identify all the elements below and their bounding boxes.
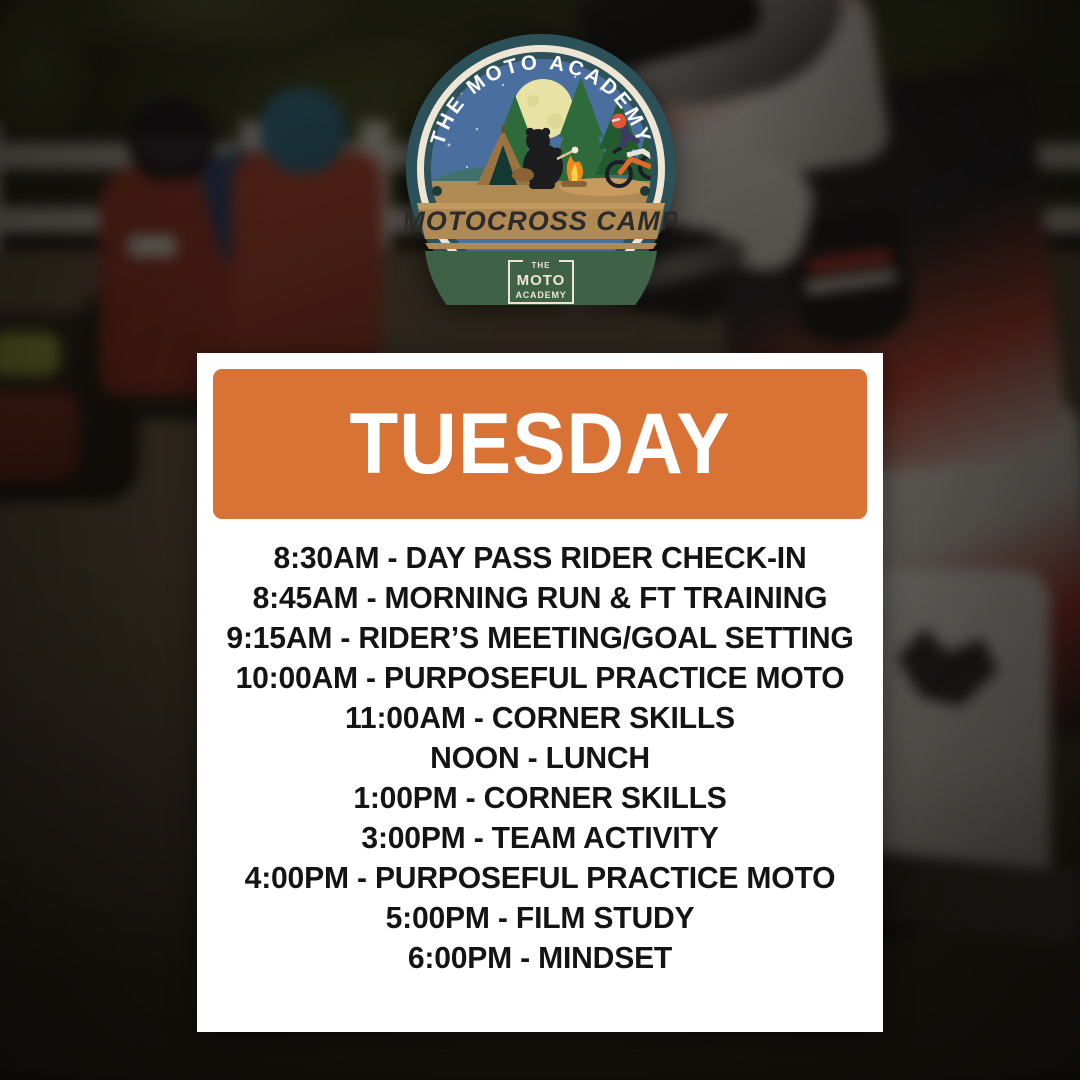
schedule-item: 10:00AM - PURPOSEFUL PRACTICE MOTO — [219, 658, 861, 698]
schedule-item: NOON - LUNCH — [219, 738, 861, 778]
badge-band-text: MOTOCROSS CAMP — [405, 206, 677, 236]
schedule-item: 3:00PM - TEAM ACTIVITY — [219, 818, 861, 858]
schedule-item: 4:00PM - PURPOSEFUL PRACTICE MOTO — [219, 858, 861, 898]
badge-dot-right — [640, 186, 650, 196]
svg-text:ACADEMY: ACADEMY — [515, 290, 566, 300]
schedule-list: 8:30AM - DAY PASS RIDER CHECK-IN 8:45AM … — [209, 538, 871, 978]
badge-dot-left — [432, 186, 442, 196]
day-title: TUESDAY — [349, 401, 730, 487]
schedule-item: 8:45AM - MORNING RUN & FT TRAINING — [219, 578, 861, 618]
poster-canvas: THE MOTO ACADEMY MOTOCROSS CAMP THE MOTO… — [0, 0, 1080, 1080]
schedule-item: 11:00AM - CORNER SKILLS — [219, 698, 861, 738]
svg-text:THE: THE — [532, 261, 551, 270]
schedule-item: 8:30AM - DAY PASS RIDER CHECK-IN — [219, 538, 861, 578]
svg-text:MOTO: MOTO — [517, 272, 566, 289]
schedule-card: TUESDAY 8:30AM - DAY PASS RIDER CHECK-IN… — [197, 353, 883, 1032]
schedule-item: 6:00PM - MINDSET — [219, 938, 861, 978]
day-banner: TUESDAY — [213, 369, 867, 519]
schedule-item: 1:00PM - CORNER SKILLS — [219, 778, 861, 818]
schedule-item: 9:15AM - RIDER’S MEETING/GOAL SETTING — [219, 618, 861, 658]
badge-log — [512, 168, 534, 182]
moto-academy-badge-logo: THE MOTO ACADEMY MOTOCROSS CAMP THE MOTO… — [405, 33, 677, 305]
schedule-item: 5:00PM - FILM STUDY — [219, 898, 861, 938]
